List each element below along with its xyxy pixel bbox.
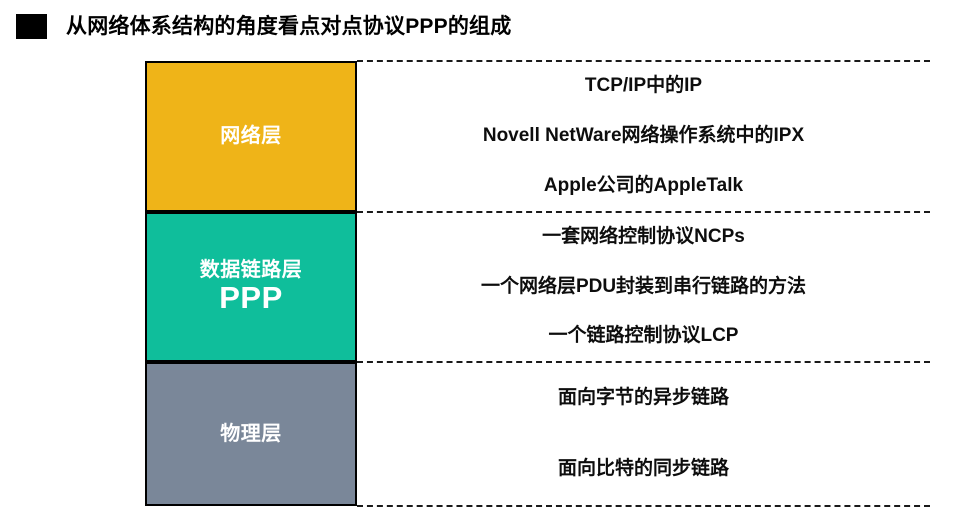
layer-box-physical: 物理层	[145, 362, 357, 506]
separator-line-bottom	[357, 505, 930, 507]
layer-label-network: 网络层	[220, 125, 282, 148]
detail-group-network: TCP/IP中的IP Novell NetWare网络操作系统中的IPX App…	[357, 62, 930, 211]
ppp-architecture-diagram: 网络层 数据链路层 PPP 物理层 TCP/IP中的IP Novell NetW…	[0, 0, 953, 518]
detail-item: Apple公司的AppleTalk	[544, 175, 743, 198]
layer-label-physical: 物理层	[220, 423, 282, 446]
detail-item: 面向字节的异步链路	[558, 387, 729, 410]
detail-item: Novell NetWare网络操作系统中的IPX	[483, 125, 804, 148]
layer-box-network: 网络层	[145, 61, 357, 212]
layer-label-data-link: 数据链路层	[200, 259, 303, 282]
detail-group-physical: 面向字节的异步链路 面向比特的同步链路	[357, 363, 930, 505]
detail-item: 一套网络控制协议NCPs	[542, 226, 745, 249]
detail-item: 一个链路控制协议LCP	[548, 325, 738, 348]
layer-box-data-link: 数据链路层 PPP	[145, 212, 357, 362]
detail-group-data-link: 一套网络控制协议NCPs 一个网络层PDU封装到串行链路的方法 一个链路控制协议…	[357, 213, 930, 361]
detail-item: 面向比特的同步链路	[558, 458, 729, 481]
detail-item: 一个网络层PDU封装到串行链路的方法	[481, 276, 806, 299]
layer-sublabel-ppp: PPP	[219, 282, 283, 315]
detail-item: TCP/IP中的IP	[585, 75, 702, 98]
